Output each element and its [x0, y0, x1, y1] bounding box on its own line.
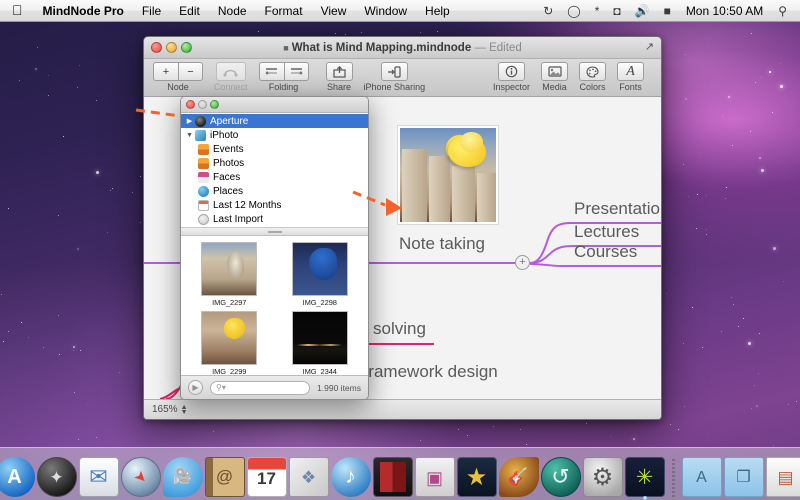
toolbar-group-share: Share — [326, 62, 353, 92]
node-image-attachment[interactable] — [397, 125, 499, 225]
dock-icon-facetime[interactable] — [163, 457, 203, 497]
disclosure-triangle-icon[interactable]: ▶ — [184, 117, 195, 125]
disclosure-triangle-icon[interactable]: ▼ — [184, 132, 195, 139]
info-icon[interactable] — [498, 62, 525, 81]
node-courses[interactable]: Courses — [574, 242, 637, 262]
menu-app-name[interactable]: MindNode Pro — [34, 0, 133, 22]
photos-icon — [198, 158, 209, 169]
media-browser-minimize-button[interactable] — [198, 100, 207, 109]
source-item-faces[interactable]: Faces — [181, 170, 368, 184]
chat-bubble-icon[interactable]: ◯ — [560, 0, 587, 22]
stepper-down-arrow[interactable]: ▼ — [181, 410, 188, 415]
color-palette-icon-glyph — [586, 66, 599, 78]
source-item-last-import[interactable]: Last Import — [181, 212, 368, 226]
source-item-iphoto[interactable]: ▼ iPhoto — [181, 128, 368, 142]
dock-icon-mindnode-pro[interactable] — [625, 457, 665, 497]
media-browser-bottom-bar: ▶ ⚲▾ 1.990 items — [181, 375, 368, 399]
iphone-sharing-icon-glyph — [387, 66, 401, 78]
dock-icon-garageband[interactable] — [499, 457, 539, 497]
source-item-places[interactable]: Places — [181, 184, 368, 198]
source-item-label: Places — [213, 186, 243, 197]
dock-icon-photo-booth[interactable] — [415, 457, 455, 497]
toolbar-group-media: Media — [541, 62, 568, 92]
last-import-icon — [198, 214, 209, 225]
toolbar-label-share: Share — [327, 82, 351, 92]
share-icon-glyph — [333, 66, 346, 78]
toolbar-group-folding: Folding — [259, 62, 309, 92]
dock-separator — [672, 459, 675, 497]
add-child-node-button[interactable]: + — [515, 255, 530, 270]
source-item-label: Aperture — [210, 116, 248, 127]
source-item-aperture[interactable]: ▶ Aperture — [181, 114, 368, 128]
dock-icon-quicktime[interactable] — [373, 457, 413, 497]
dock-icon-itunes[interactable] — [331, 457, 371, 497]
media-browser-zoom-button[interactable] — [210, 100, 219, 109]
source-item-label: Last 12 Months — [213, 200, 281, 211]
thumbnail-image — [201, 311, 257, 365]
menu-item-window[interactable]: Window — [355, 0, 416, 22]
play-icon[interactable]: ▶ — [188, 380, 203, 395]
image-building-2 — [429, 156, 450, 222]
thumbnail-item[interactable]: IMG_2299 — [185, 311, 274, 375]
last-12-months-icon — [198, 200, 209, 211]
connect-icon-glyph — [223, 66, 238, 77]
menu-item-format[interactable]: Format — [256, 0, 312, 22]
thumbnail-item[interactable]: IMG_2298 — [276, 242, 365, 307]
node-lectures[interactable]: Lectures — [574, 222, 639, 242]
fullscreen-icon[interactable]: ↗ — [643, 41, 656, 54]
zoom-stepper[interactable]: ▲ ▼ — [181, 405, 188, 415]
faces-icon — [198, 172, 209, 183]
zoom-button[interactable] — [181, 42, 192, 53]
media-browser-source-list[interactable]: ▶ Aperture ▼ iPhoto Events Photos Faces … — [181, 113, 368, 228]
media-browser-thumbnail-grid[interactable]: IMG_2297 IMG_2298 IMG_2299 IMG_2344 — [181, 236, 368, 375]
source-item-label: Last Import — [213, 214, 263, 225]
bluetooth-icon[interactable]: * — [588, 0, 607, 22]
thumbnail-image — [201, 242, 257, 296]
thumbnail-caption: IMG_2344 — [303, 367, 337, 375]
thumbnail-caption: IMG_2298 — [303, 298, 337, 307]
thumbnail-image — [292, 242, 348, 296]
window-titlebar[interactable]: ■What is Mind Mapping.mindnode — Edited … — [144, 37, 661, 59]
dock-items — [0, 457, 800, 497]
info-icon-glyph — [505, 65, 518, 78]
fonts-A-icon[interactable]: A — [617, 62, 644, 81]
toolbar-label-folding: Folding — [269, 82, 299, 92]
search-icon: ⚲▾ — [216, 383, 226, 392]
color-palette-icon[interactable] — [579, 62, 606, 81]
fonts-A-glyph: A — [626, 65, 635, 79]
zoom-level-value: 165% — [152, 404, 178, 415]
dock-icon-calendar[interactable] — [247, 457, 287, 497]
time-machine-icon[interactable]: ↻ — [536, 0, 560, 22]
window-title: ■What is Mind Mapping.mindnode — Edited — [144, 42, 661, 54]
thumbnail-image — [292, 311, 348, 365]
close-button[interactable] — [151, 42, 162, 53]
toolbar-label-media: Media — [542, 82, 567, 92]
dock-icon-app-store[interactable] — [0, 457, 35, 497]
source-item-label: iPhoto — [210, 130, 238, 141]
dock-icon-time-machine[interactable] — [541, 457, 581, 497]
thumbnail-item[interactable]: IMG_2297 — [185, 242, 274, 307]
source-item-label: Photos — [213, 158, 244, 169]
media-picture-icon[interactable] — [541, 62, 568, 81]
search-input[interactable]: ⚲▾ — [210, 381, 310, 395]
unfold-icon[interactable] — [284, 62, 309, 81]
node-presentations[interactable]: Presentations — [574, 199, 661, 219]
menu-item-node[interactable]: Node — [209, 0, 256, 22]
dock-icon-documents-folder[interactable] — [724, 457, 764, 497]
thumbnail-item[interactable]: IMG_2344 — [276, 311, 365, 375]
window-title-text: What is Mind Mapping.mindnode — [292, 42, 472, 54]
unfold-icon-glyph — [289, 67, 303, 76]
minimize-button[interactable] — [166, 42, 177, 53]
add-node-button[interactable]: + — [153, 62, 178, 81]
image-building-3 — [452, 166, 475, 222]
media-browser-split-handle[interactable] — [181, 228, 368, 236]
menu-bar-clock[interactable]: Mon 10:50 AM — [678, 0, 771, 22]
dock — [0, 447, 800, 500]
dock-icon-imovie[interactable] — [457, 457, 497, 497]
window-toolbar: + − Node Connect — [144, 59, 661, 97]
menu-item-file[interactable]: File — [133, 0, 170, 22]
toolbar-label-fonts: Fonts — [619, 82, 642, 92]
menu-bar:  MindNode Pro File Edit Node Format Vie… — [0, 0, 800, 22]
toolbar-label-iphone-sharing: iPhone Sharing — [364, 82, 426, 92]
dock-icon-applications-folder[interactable] — [682, 457, 722, 497]
branch-courses — [530, 264, 661, 266]
source-item-events[interactable]: Events — [181, 142, 368, 156]
image-building-1 — [402, 149, 427, 222]
toolbar-group-node: + − Node — [153, 62, 203, 92]
places-icon — [198, 186, 209, 197]
toolbar-label-connect: Connect — [214, 82, 248, 92]
menu-item-edit[interactable]: Edit — [170, 0, 209, 22]
spotlight-search-icon[interactable]: ⚲ — [771, 0, 794, 22]
source-item-label: Faces — [213, 172, 240, 183]
menu-item-view[interactable]: View — [312, 0, 356, 22]
fold-icon-glyph — [265, 67, 279, 76]
running-indicator — [643, 496, 647, 500]
source-item-photos[interactable]: Photos — [181, 156, 368, 170]
events-icon — [198, 144, 209, 155]
item-count-label: 1.990 items — [317, 383, 361, 393]
dock-icon-system-preferences[interactable] — [583, 457, 623, 497]
document-icon: ■ — [283, 43, 288, 53]
node-note-taking[interactable]: Note taking — [399, 234, 485, 254]
window-edited-label: — Edited — [474, 42, 521, 54]
image-building-4 — [477, 173, 496, 222]
dock-icon-contacts[interactable] — [205, 457, 245, 497]
toolbar-label-colors: Colors — [579, 82, 605, 92]
toolbar-group-iphone-sharing: iPhone Sharing — [364, 62, 426, 92]
toolbar-label-inspector: Inspector — [493, 82, 530, 92]
toolbar-group-connect: Connect — [214, 62, 248, 92]
volume-icon[interactable]: 🔊 — [628, 0, 657, 22]
share-icon[interactable] — [326, 62, 353, 81]
aperture-icon — [195, 116, 206, 127]
dock-icon-safari[interactable] — [121, 457, 161, 497]
image-balloon-head — [460, 132, 483, 153]
apple-menu-icon[interactable]:  — [0, 3, 34, 17]
dock-icon-dashboard[interactable] — [37, 457, 77, 497]
toolbar-label-node: Node — [167, 82, 189, 92]
node-image-thumbnail — [400, 128, 496, 222]
connect-icon[interactable] — [216, 62, 246, 81]
iphone-sharing-icon[interactable] — [381, 62, 408, 81]
remove-node-button[interactable]: − — [178, 62, 203, 81]
media-browser-panel[interactable]: ▶ Aperture ▼ iPhoto Events Photos Faces … — [180, 96, 369, 400]
wifi-icon[interactable]: ◘ — [606, 0, 627, 22]
thumbnail-caption: IMG_2297 — [212, 298, 246, 307]
media-browser-close-button[interactable] — [186, 100, 195, 109]
window-statusbar: 165% ▲ ▼ — [144, 399, 661, 419]
menu-item-help[interactable]: Help — [416, 0, 459, 22]
toolbar-group-colors: Colors — [579, 62, 606, 92]
battery-icon[interactable]: ■ — [657, 0, 678, 22]
source-item-last-12-months[interactable]: Last 12 Months — [181, 198, 368, 212]
split-grip-icon — [268, 231, 282, 233]
dock-icon-mail[interactable] — [79, 457, 119, 497]
media-browser-titlebar[interactable] — [181, 97, 368, 113]
source-item-label: Events — [213, 144, 244, 155]
media-picture-icon-glyph — [548, 66, 562, 77]
dock-icon-downloads-stack[interactable] — [766, 457, 800, 497]
dock-icon-iphoto[interactable] — [289, 457, 329, 497]
window-traffic-lights — [144, 42, 192, 53]
toolbar-group-inspector: Inspector — [493, 62, 530, 92]
iphoto-icon — [195, 130, 206, 141]
toolbar-group-fonts: A Fonts — [617, 62, 644, 92]
fold-icon[interactable] — [259, 62, 284, 81]
thumbnail-caption: IMG_2299 — [212, 367, 246, 375]
